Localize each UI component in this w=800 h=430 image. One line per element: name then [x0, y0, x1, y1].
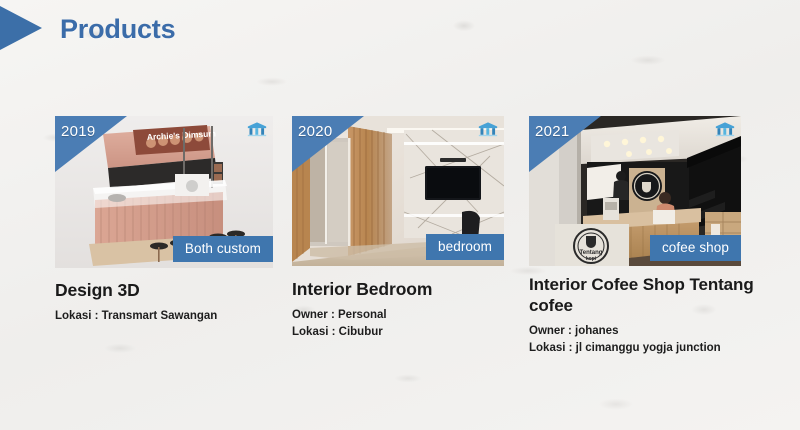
product-card-grid: Archie's Dimsum: [0, 116, 800, 376]
card-image-container[interactable]: Archie's Dimsum: [55, 116, 273, 268]
svg-text:kopi: kopi: [586, 256, 597, 262]
page-title: Products: [60, 14, 175, 45]
header-triangle-accent-icon: [0, 6, 42, 50]
card-image-container[interactable]: 2020 bedroom: [292, 116, 504, 266]
card-caption-chip: cofee shop: [650, 235, 741, 261]
card-meta-line: Owner : Personal: [292, 307, 532, 324]
building-logo-icon: [478, 121, 498, 137]
product-card[interactable]: 2020 bedroom Interior Bedroom Owner : Pe…: [292, 116, 504, 266]
card-image-container[interactable]: Tentang kopi 2021 cofee shop: [529, 116, 741, 266]
page-header: Products: [0, 0, 800, 72]
card-caption-chip: bedroom: [426, 234, 504, 260]
building-logo-icon: [247, 121, 267, 137]
card-meta: Owner : Personal Lokasi : Cibubur: [292, 307, 532, 340]
card-caption-chip: Both custom: [173, 236, 273, 262]
card-body: Design 3D Lokasi : Transmart Sawangan: [55, 280, 305, 325]
card-body: Interior Cofee Shop Tentang cofee Owner …: [529, 275, 791, 357]
card-title: Interior Cofee Shop Tentang cofee: [529, 275, 791, 316]
card-title: Interior Bedroom: [292, 279, 532, 300]
card-title: Design 3D: [55, 280, 305, 301]
product-card[interactable]: Tentang kopi 2021 cofee shop Interior Co…: [529, 116, 741, 266]
card-meta-line: Lokasi : Transmart Sawangan: [55, 308, 305, 325]
card-body: Interior Bedroom Owner : Personal Lokasi…: [292, 279, 532, 341]
card-meta-line: Lokasi : jl cimanggu yogja junction: [529, 340, 791, 357]
card-meta-line: Owner : johanes: [529, 323, 791, 340]
card-meta: Lokasi : Transmart Sawangan: [55, 308, 305, 325]
product-card[interactable]: Archie's Dimsum: [55, 116, 273, 268]
building-logo-icon: [715, 121, 735, 137]
card-meta: Owner : johanes Lokasi : jl cimanggu yog…: [529, 323, 791, 356]
card-meta-line: Lokasi : Cibubur: [292, 324, 532, 341]
